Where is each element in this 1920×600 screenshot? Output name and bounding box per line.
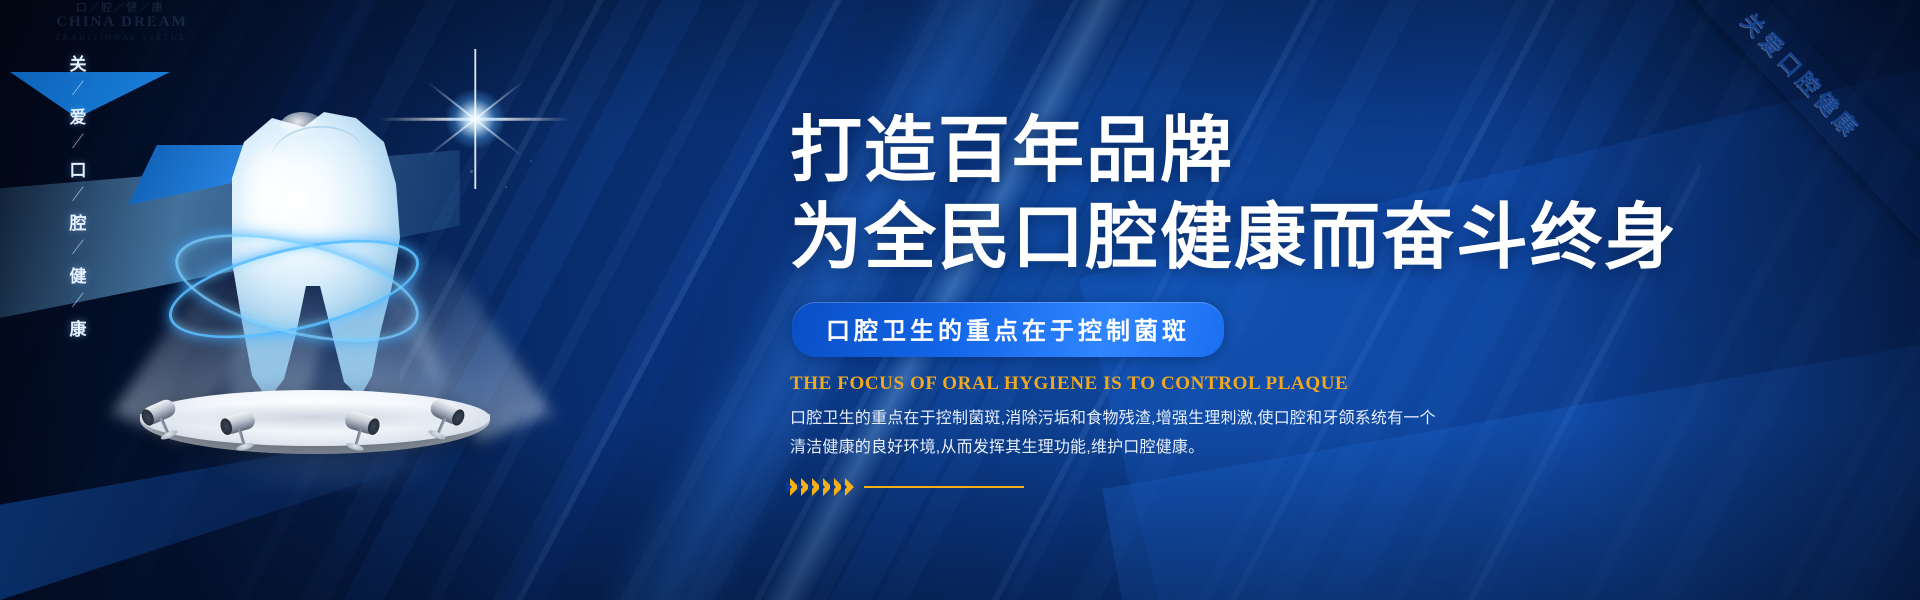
content-column: 打造百年品牌 为全民口腔健康而奋斗终身 口腔卫生的重点在于控制菌斑 THE FO… <box>790 110 1870 497</box>
brand-top-en-sub: TRADITIONAL VIRTUE <box>46 33 196 42</box>
vertical-separator: ／ <box>62 129 94 153</box>
vertical-char: 健 <box>63 262 93 287</box>
tooth-illustration <box>120 70 540 470</box>
vertical-separator: ／ <box>62 288 94 312</box>
headline-line-1: 打造百年品牌 <box>790 110 1870 193</box>
vertical-separator: ／ <box>62 182 94 206</box>
vertical-char: 口 <box>63 156 93 181</box>
slogan-pill-button[interactable]: 口腔卫生的重点在于控制菌斑 <box>792 302 1224 357</box>
vertical-char: 腔 <box>63 209 93 234</box>
english-subtitle: THE FOCUS OF ORAL HYGIENE IS TO CONTROL … <box>790 373 1870 395</box>
headline-line-2: 为全民口腔健康而奋斗终身 <box>790 197 1870 280</box>
dental-banner: 口／腔／健／康 CHINA DREAM TRADITIONAL VIRTUE 关… <box>0 0 1920 600</box>
body-line-2: 清洁健康的良好环境,从而发挥其生理功能,维护口腔健康。 <box>790 433 1430 463</box>
lamp-base <box>345 441 364 452</box>
body-paragraph: 口腔卫生的重点在于控制菌斑,消除污垢和食物残渣,增强生理刺激,使口腔和牙颌系统有… <box>790 404 1430 463</box>
vertical-char: 关 <box>63 50 93 75</box>
vertical-char: 爱 <box>63 103 93 128</box>
sparkle-core <box>445 89 505 149</box>
chevron-icon <box>845 478 854 496</box>
vertical-separator: ／ <box>62 235 94 259</box>
vertical-slogan: 关 ／ 爱 ／ 口 ／ 腔 ／ 健 ／ 康 <box>63 50 93 342</box>
chevron-decoration <box>790 477 1870 497</box>
accent-rule <box>864 486 1024 488</box>
brand-top-en: CHINA DREAM <box>52 14 192 31</box>
vertical-separator: ／ <box>62 76 94 100</box>
vertical-char: 康 <box>63 315 93 340</box>
lamp-base <box>236 441 255 452</box>
sparkle-icon <box>472 116 478 122</box>
body-line-1: 口腔卫生的重点在于控制菌斑,消除污垢和食物残渣,增强生理刺激,使口腔和牙颌系统有… <box>790 404 1430 434</box>
